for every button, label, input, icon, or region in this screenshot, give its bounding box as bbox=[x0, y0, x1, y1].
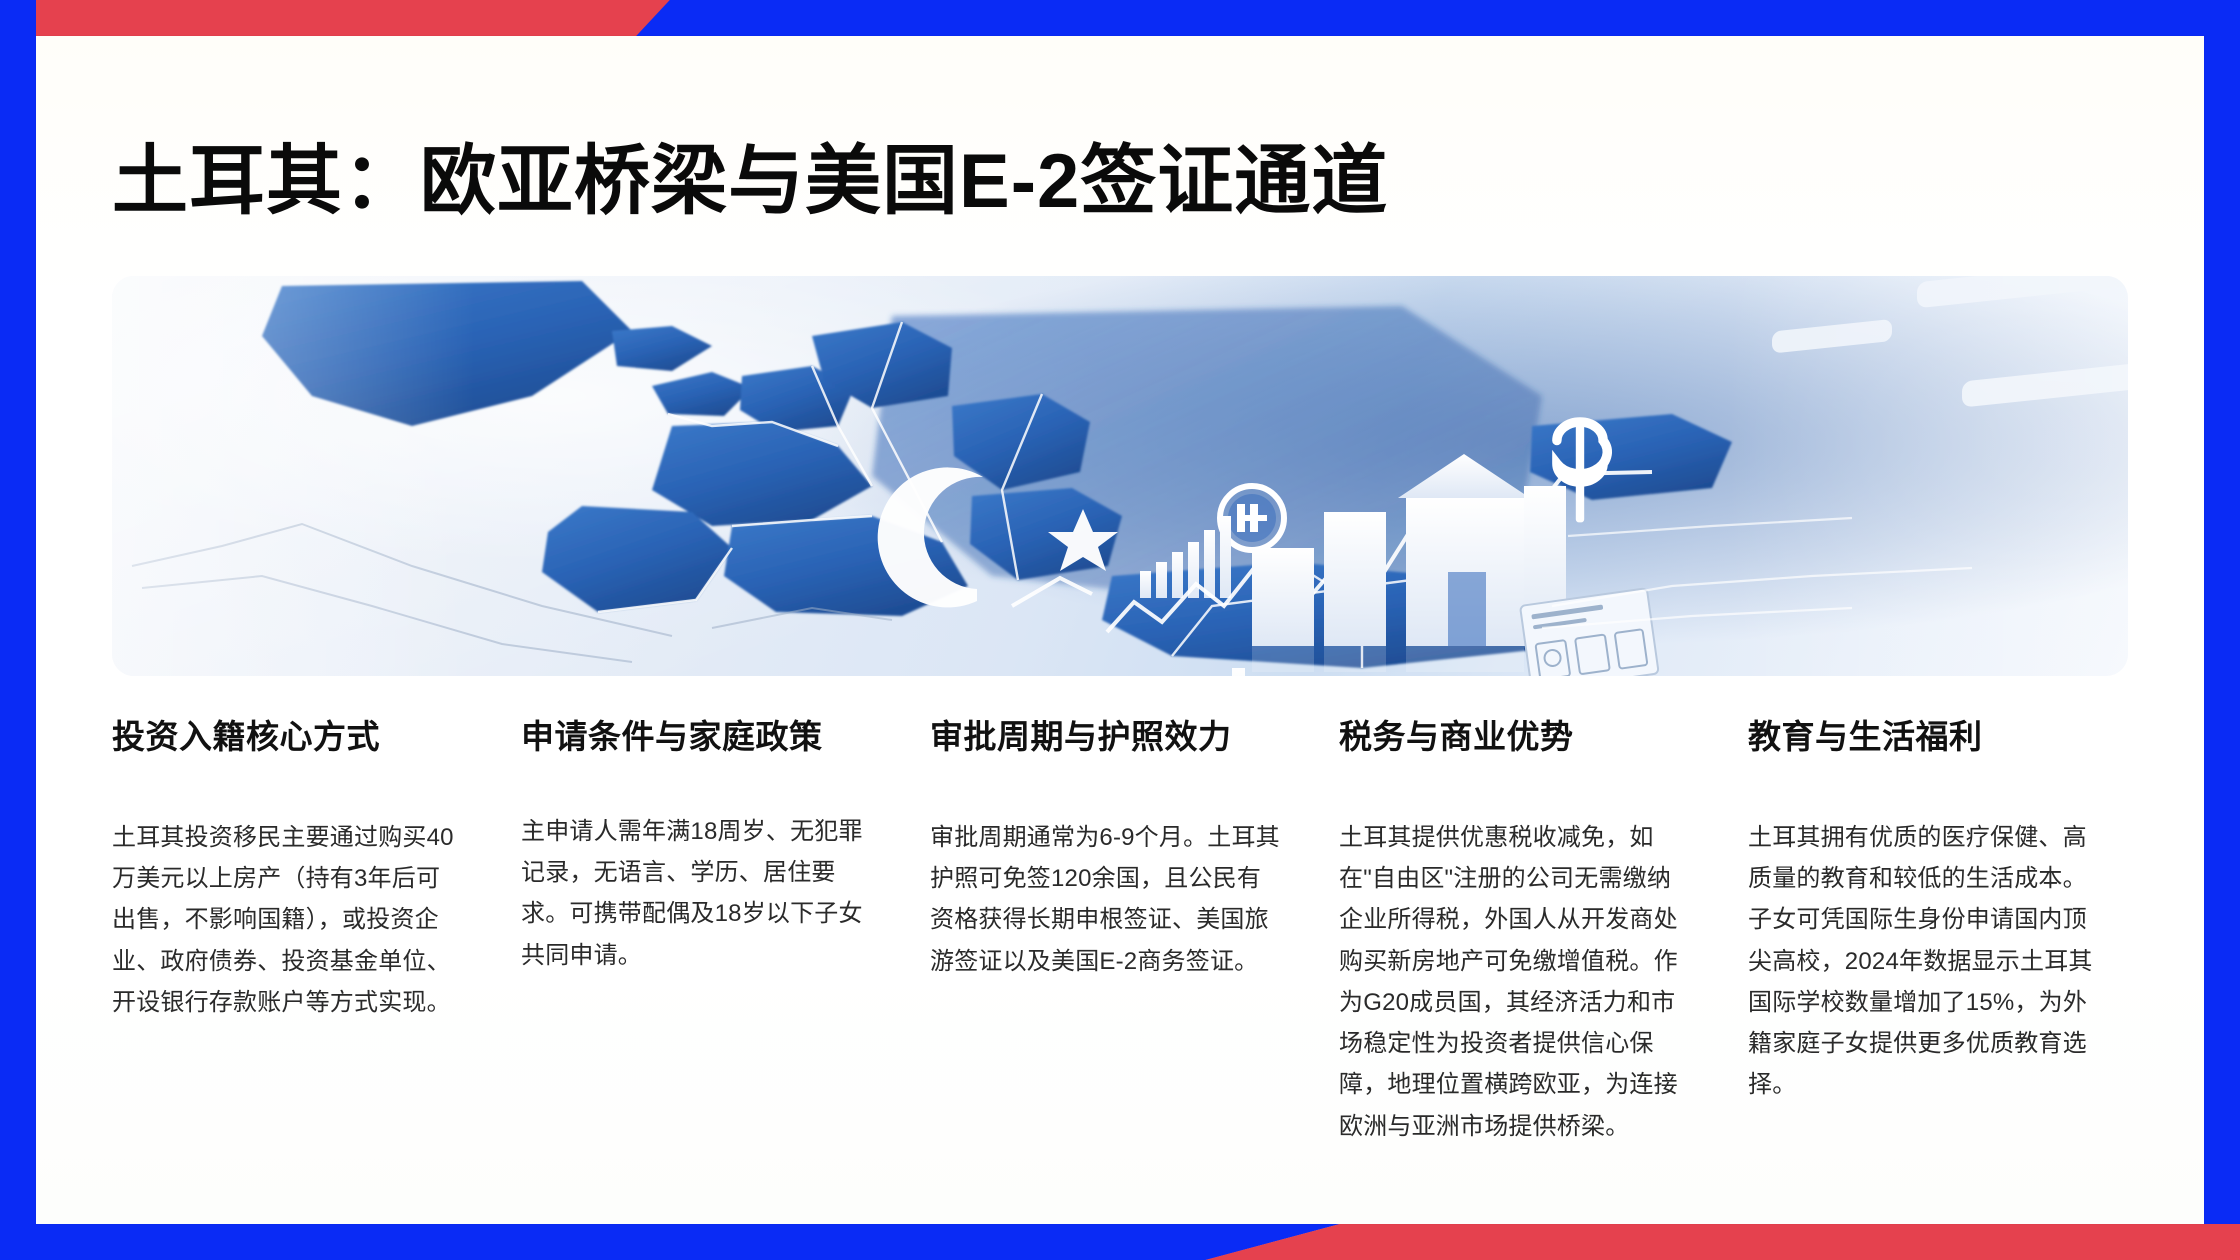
info-column-education-living: 教育与生活福利 土耳其拥有优质的医疗保健、高质量的教育和较低的生活成本。子女可凭… bbox=[1748, 716, 2148, 1147]
column-heading: 审批周期与护照效力 bbox=[930, 716, 1330, 759]
bottom-band-blue-segment bbox=[0, 1224, 1340, 1260]
column-heading: 申请条件与家庭政策 bbox=[521, 716, 921, 759]
info-column-application-requirements: 申请条件与家庭政策 主申请人需年满18周岁、无犯罪记录，无语言、学历、居住要求。… bbox=[521, 716, 921, 1147]
column-body: 审批周期通常为6-9个月。土耳其护照可免签120余国，且公民有资格获得长期申根签… bbox=[930, 817, 1282, 982]
bottom-accent-band bbox=[0, 1224, 2240, 1260]
content-card: 土耳其：欧亚桥梁与美国E-2签证通道 bbox=[36, 36, 2204, 1224]
column-heading: 教育与生活福利 bbox=[1748, 716, 2148, 759]
column-heading: 税务与商业优势 bbox=[1339, 716, 1739, 759]
eurasia-map-illustration bbox=[112, 276, 2128, 676]
column-body: 主申请人需年满18周岁、无犯罪记录，无语言、学历、居住要求。可携带配偶及18岁以… bbox=[521, 811, 873, 976]
hero-map-banner bbox=[112, 276, 2128, 676]
top-accent-band bbox=[0, 0, 2240, 36]
column-body: 土耳其投资移民主要通过购买40万美元以上房产（持有3年后可出售，不影响国籍），或… bbox=[112, 817, 464, 1023]
column-heading: 投资入籍核心方式 bbox=[112, 716, 512, 759]
left-accent-rail bbox=[0, 0, 36, 1260]
column-body: 土耳其拥有优质的医疗保健、高质量的教育和较低的生活成本。子女可凭国际生身份申请国… bbox=[1748, 817, 2100, 1106]
info-columns: 投资入籍核心方式 土耳其投资移民主要通过购买40万美元以上房产（持有3年后可出售… bbox=[112, 716, 2148, 1147]
info-column-investment-citizenship: 投资入籍核心方式 土耳其投资移民主要通过购买40万美元以上房产（持有3年后可出售… bbox=[112, 716, 512, 1147]
page-title: 土耳其：欧亚桥梁与美国E-2签证通道 bbox=[112, 139, 1388, 224]
column-body: 土耳其提供优惠税收减免，如在"自由区"注册的公司无需缴纳企业所得税，外国人从开发… bbox=[1339, 817, 1691, 1147]
right-accent-rail bbox=[2204, 0, 2240, 1260]
info-column-processing-passport: 审批周期与护照效力 审批周期通常为6-9个月。土耳其护照可免签120余国，且公民… bbox=[930, 716, 1330, 1147]
info-column-tax-business: 税务与商业优势 土耳其提供优惠税收减免，如在"自由区"注册的公司无需缴纳企业所得… bbox=[1339, 716, 1739, 1147]
bar-chart-icon bbox=[1142, 668, 1245, 676]
top-band-red-segment bbox=[0, 0, 700, 36]
northern-landmass bbox=[262, 281, 712, 426]
poster-root: 土耳其：欧亚桥梁与美国E-2签证通道 bbox=[0, 0, 2240, 1260]
skyline-bars bbox=[1772, 276, 2128, 428]
